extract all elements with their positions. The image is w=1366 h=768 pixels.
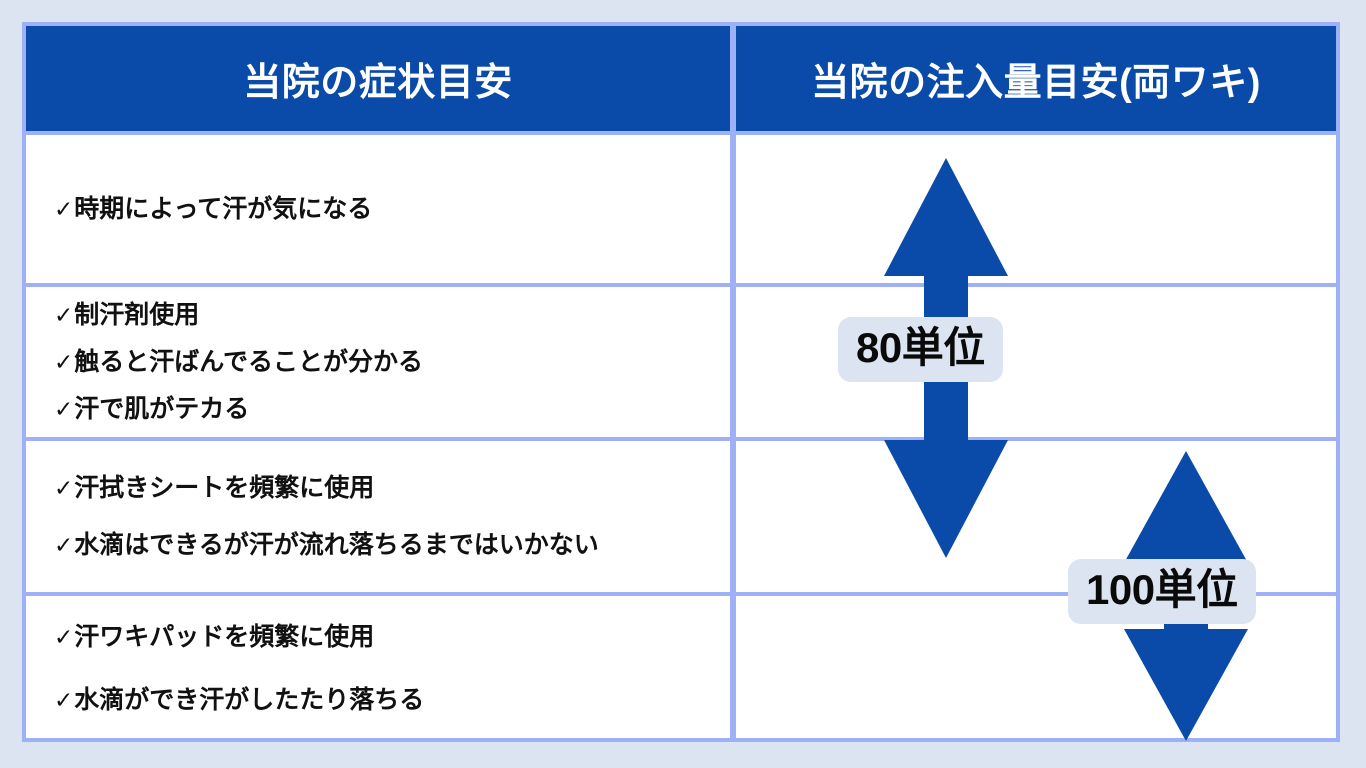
list-item-label: 水滴はできるが汗が流れ落ちるまではいかない [74, 531, 599, 559]
checkmark-icon: ✓ [54, 302, 73, 328]
dosage-badge-80: 80単位 [838, 317, 1003, 382]
table-header-row: 当院の症状目安 当院の注入量目安(両ワキ) [26, 26, 1336, 131]
table-row: ✓制汗剤使用 ✓触ると汗ばんでることが分かる ✓汗で肌がテカる [26, 287, 730, 437]
list-item-label: 時期によって汗が気になる [74, 195, 372, 223]
table-row: ✓時期によって汗が気になる [26, 135, 730, 283]
dosage-guide-table: 当院の症状目安 当院の注入量目安(両ワキ) ✓時期によって汗が気になる ✓制汗剤… [22, 22, 1340, 742]
column-header-dosage: 当院の注入量目安(両ワキ) [736, 26, 1336, 131]
list-item: ✓触ると汗ばんでることが分かる [54, 350, 716, 375]
slide-canvas: 当院の症状目安 当院の注入量目安(両ワキ) ✓時期によって汗が気になる ✓制汗剤… [0, 0, 1366, 768]
list-item-label: 触ると汗ばんでることが分かる [74, 348, 423, 376]
table-row: ✓汗ワキパッドを頻繁に使用 ✓水滴ができ汗がしたたり落ちる [26, 596, 730, 742]
list-item-label: 汗ワキパッドを頻繁に使用 [74, 623, 374, 651]
checkmark-icon: ✓ [54, 349, 73, 375]
checkmark-icon: ✓ [54, 196, 73, 222]
list-item: ✓水滴はできるが汗が流れ落ちるまではいかない [54, 533, 716, 558]
list-item-label: 制汗剤使用 [74, 301, 199, 329]
dosage-badge-100: 100単位 [1068, 559, 1256, 624]
list-item: ✓汗拭きシートを頻繁に使用 [54, 476, 716, 501]
list-item: ✓汗ワキパッドを頻繁に使用 [54, 625, 716, 650]
list-item: ✓水滴ができ汗がしたたり落ちる [54, 688, 716, 713]
list-item: ✓制汗剤使用 [54, 303, 716, 328]
list-item: ✓時期によって汗が気になる [54, 197, 716, 222]
list-item-label: 汗拭きシートを頻繁に使用 [74, 474, 374, 502]
checkmark-icon: ✓ [54, 687, 73, 713]
list-item-label: 汗で肌がテカる [74, 395, 249, 423]
list-item-label: 水滴ができ汗がしたたり落ちる [74, 686, 424, 714]
column-header-symptoms: 当院の症状目安 [26, 26, 730, 131]
list-item: ✓汗で肌がテカる [54, 397, 716, 422]
checkmark-icon: ✓ [54, 624, 73, 650]
dosage-arrow-layer [736, 131, 1336, 738]
checkmark-icon: ✓ [54, 532, 73, 558]
checkmark-icon: ✓ [54, 396, 73, 422]
checkmark-icon: ✓ [54, 475, 73, 501]
table-row: ✓汗拭きシートを頻繁に使用 ✓水滴はできるが汗が流れ落ちるまではいかない [26, 441, 730, 592]
